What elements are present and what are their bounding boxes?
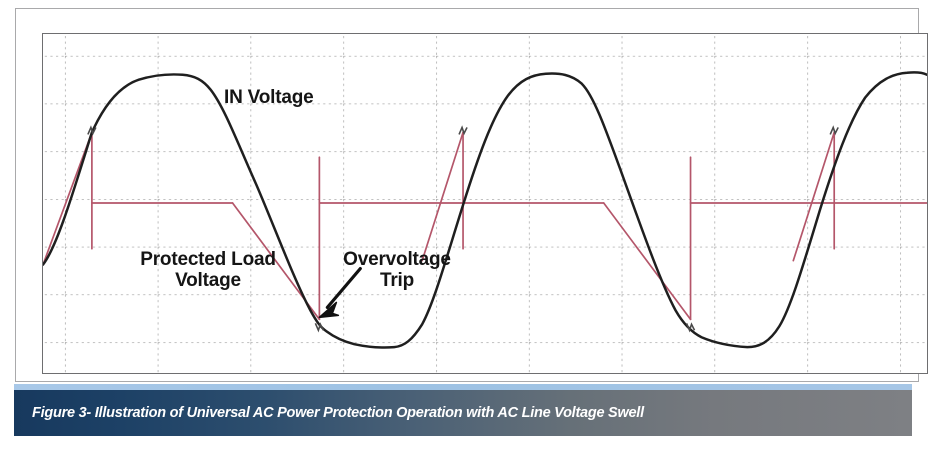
figure-root: IN Voltage Protected Load Voltage Overvo… <box>0 0 936 450</box>
label-overvoltage-trip-line2: Trip <box>323 270 471 291</box>
label-in-voltage: IN Voltage <box>224 87 314 108</box>
label-overvoltage-trip: Overvoltage Trip <box>323 249 471 292</box>
oscilloscope-plot: IN Voltage Protected Load Voltage Overvo… <box>42 33 928 374</box>
figure-caption-bar: Figure 3- Illustration of Universal AC P… <box>14 390 912 436</box>
figure-caption-text: Figure 3- Illustration of Universal AC P… <box>14 405 644 421</box>
label-protected-load-line2: Voltage <box>119 270 297 291</box>
waveform-svg <box>43 34 927 373</box>
label-overvoltage-trip-line1: Overvoltage <box>323 249 471 270</box>
label-protected-load-voltage: Protected Load Voltage <box>119 249 297 292</box>
label-protected-load-line1: Protected Load <box>119 249 297 270</box>
figure-panel: IN Voltage Protected Load Voltage Overvo… <box>15 8 919 382</box>
